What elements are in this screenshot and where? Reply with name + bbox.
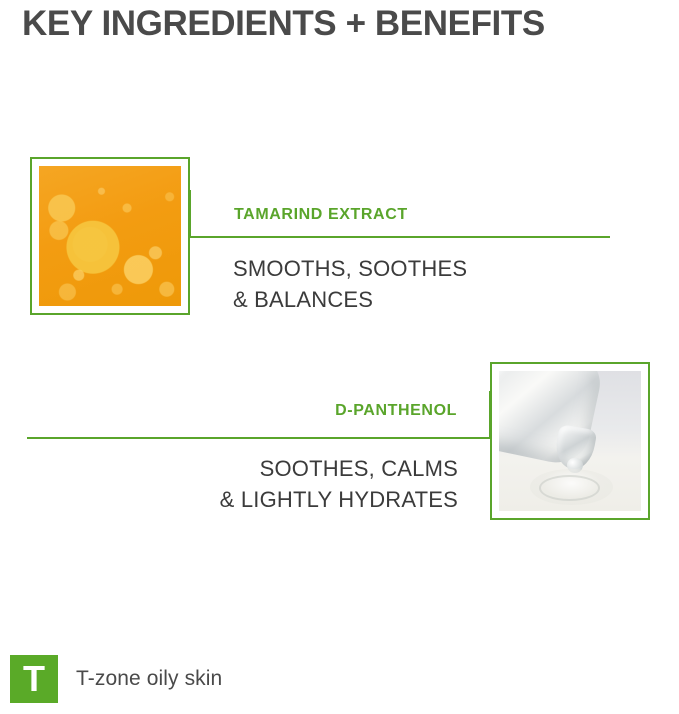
tamarind-divider-rule — [189, 236, 610, 238]
skin-type-row: T T-zone oily skin — [10, 655, 222, 703]
ingredient-benefit-tamarind: SMOOTHS, SOOTHES & BALANCES — [233, 253, 633, 315]
ingredient-benefit-line-2: & LIGHTLY HYDRATES — [60, 484, 458, 515]
d-panthenol-thumbnail-frame — [490, 362, 650, 520]
ingredient-benefit-line-1: SOOTHES, CALMS — [60, 453, 458, 484]
tamarind-connector-vertical-rule — [189, 190, 191, 238]
tamarind-extract-image — [39, 166, 181, 306]
panthenol-connector-vertical-rule — [489, 391, 491, 439]
panthenol-divider-rule — [27, 437, 491, 439]
d-panthenol-image — [499, 371, 641, 511]
ingredient-benefit-line-1: SMOOTHS, SOOTHES — [233, 253, 633, 284]
skin-type-label: T-zone oily skin — [76, 667, 222, 691]
tamarind-extract-thumbnail-frame — [30, 157, 190, 315]
liquid-ripple-shape — [539, 475, 600, 501]
ingredient-benefit-panthenol: SOOTHES, CALMS & LIGHTLY HYDRATES — [60, 453, 458, 515]
t-zone-badge-icon: T — [10, 655, 58, 703]
ingredient-name-tamarind: TAMARIND EXTRACT — [234, 206, 408, 224]
ingredient-benefit-line-2: & BALANCES — [233, 284, 633, 315]
page-title: KEY INGREDIENTS + BENEFITS — [22, 2, 662, 46]
ingredient-name-panthenol: D-PANTHENOL — [140, 402, 457, 420]
